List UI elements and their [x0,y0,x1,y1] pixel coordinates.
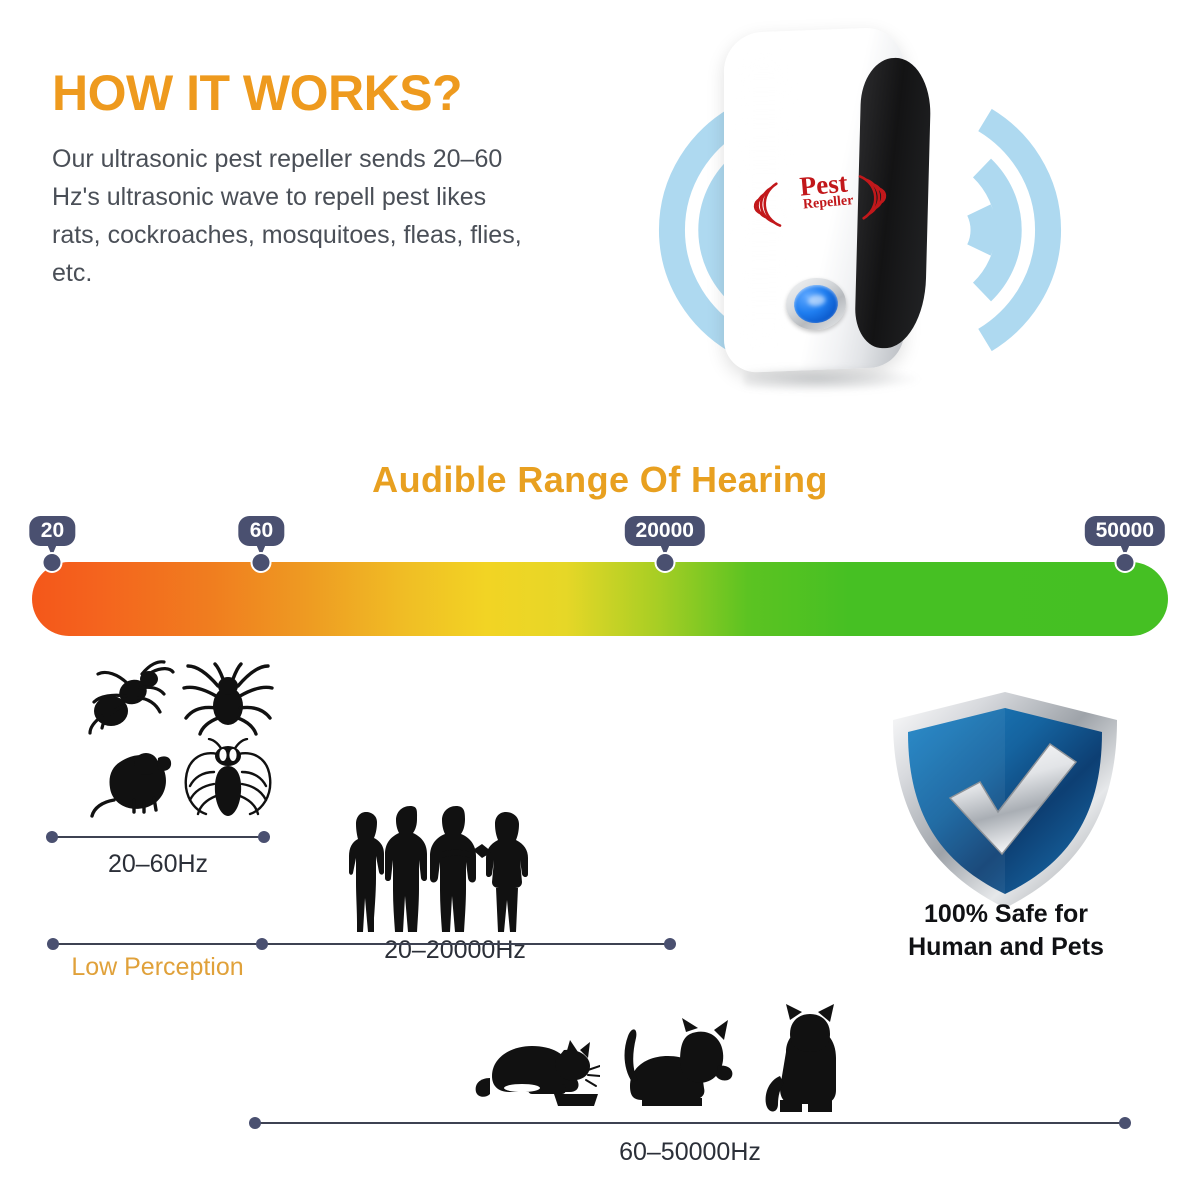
human-icon-group: 20–20000Hz [340,786,570,946]
spectrum-marker-50000[interactable]: 50000 [1065,516,1185,576]
pets-measure-dot-left [249,1117,261,1129]
cat-sitting-icon [756,1004,846,1122]
humans-range-label: 20–20000Hz [340,936,570,965]
cockroach-icon [178,738,278,820]
spectrum-marker-label: 60 [239,516,284,546]
dog-lying-icon [618,1016,736,1120]
intro-paragraph: Our ultrasonic pest repeller sends 20–60… [52,140,522,292]
pest-icon-group: 20–60Hz [72,658,292,828]
spider-icon [180,658,276,736]
pests-range-label: 20–60Hz [42,850,274,879]
logo-text: Pest Repeller [782,168,867,214]
spectrum-marker-label: 50000 [1085,516,1165,546]
humans-measure-dot-right [664,938,676,950]
pet-icon-group [470,1020,840,1130]
device-power-button-light [792,283,840,325]
ant-icon [80,658,176,736]
spectrum-marker-20000[interactable]: 20000 [605,516,725,576]
safety-badge [880,686,1130,916]
spectrum-marker-knob[interactable] [42,552,63,573]
human-silhouettes-icon [340,786,570,938]
pets-range-label: 60–50000Hz [255,1138,1125,1167]
mouse-icon [86,740,182,818]
pests-measure-dot-right [258,831,270,843]
device-illustration: Pest Repeller [560,10,1200,430]
low-perception-label: Low Perception [30,953,285,982]
humans-measure-dot-left [47,938,59,950]
device-drop-shadow [744,366,919,392]
spectrum-marker-knob[interactable] [654,552,675,573]
spectrum-marker-60[interactable]: 60 [201,516,321,576]
shield-check-icon [880,686,1130,916]
page-title: HOW IT WORKS? [52,68,462,118]
spectrum-marker-label: 20000 [625,516,705,546]
spectrum-marker-20[interactable]: 20 [0,516,112,576]
safety-caption-line1: 100% Safe for [924,900,1088,928]
sound-wave-left-icon [560,80,750,380]
pests-measure-dot-left [46,831,58,843]
spectrum-marker-label: 20 [30,516,75,546]
sound-wave-right-icon [960,80,1160,380]
infographic-canvas: HOW IT WORKS? Our ultrasonic pest repell… [0,0,1200,1200]
spectrum-title: Audible Range Of Hearing [0,459,1200,501]
pests-measure-rule [52,836,264,838]
humans-measure-rule [53,943,670,945]
pets-measure-rule [255,1122,1125,1124]
humans-measure-dot-mid [256,938,268,950]
safety-caption-line2: Human and Pets [908,933,1104,961]
cat-eating-icon [470,1020,600,1120]
pest-repeller-logo: Pest Repeller [748,164,893,238]
spectrum-marker-knob[interactable] [1114,552,1135,573]
pets-measure-dot-right [1119,1117,1131,1129]
device-power-button-highlight [807,294,826,307]
spectrum-marker-knob[interactable] [251,552,272,573]
safety-badge-caption: 100% Safe for Human and Pets [846,898,1166,964]
pest-repeller-device: Pest Repeller [724,30,924,385]
